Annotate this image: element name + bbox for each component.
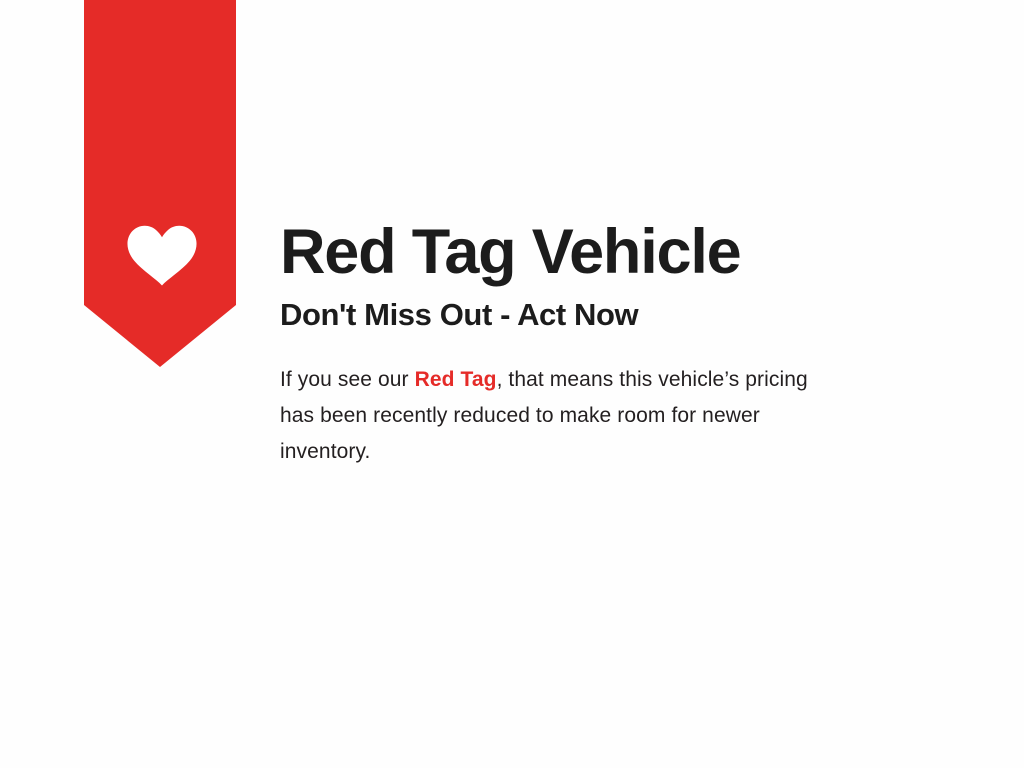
heart-icon [127, 224, 197, 286]
description-paragraph: If you see our Red Tag, that means this … [280, 362, 820, 470]
red-tag-emphasis: Red Tag [415, 368, 497, 391]
red-tag-promo-slide: Red Tag Vehicle Don't Miss Out - Act Now… [0, 0, 1024, 768]
subtitle: Don't Miss Out - Act Now [280, 296, 940, 334]
page-title: Red Tag Vehicle [280, 218, 940, 286]
red-tag-ribbon [84, 0, 236, 367]
text-block: Red Tag Vehicle Don't Miss Out - Act Now… [280, 218, 940, 470]
description-text-before: If you see our [280, 368, 415, 391]
ribbon-shape [84, 0, 236, 367]
